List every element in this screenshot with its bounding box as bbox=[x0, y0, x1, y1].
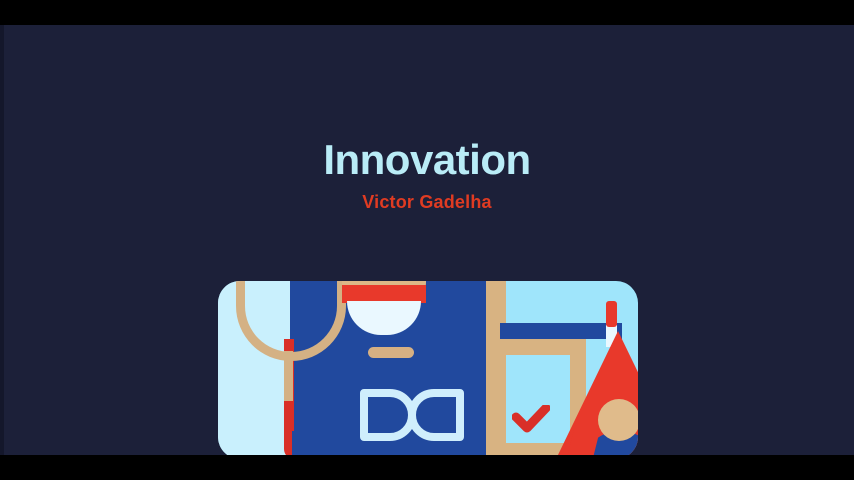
stethoscope-stem-icon bbox=[284, 351, 293, 401]
illustration-card bbox=[218, 281, 638, 455]
page-title: Innovation bbox=[0, 138, 854, 182]
pen-tip-icon bbox=[606, 301, 617, 327]
slide-canvas: Innovation Victor Gadelha bbox=[0, 25, 854, 455]
title-block: Innovation Victor Gadelha bbox=[0, 138, 854, 213]
letterbox-bottom bbox=[0, 455, 854, 480]
red-edge-mask bbox=[292, 431, 308, 455]
check-icon bbox=[512, 405, 550, 433]
person-head-shape bbox=[598, 399, 638, 441]
slide-subtitle-author: Victor Gadelha bbox=[0, 192, 854, 213]
slide-viewport: Innovation Victor Gadelha bbox=[0, 0, 854, 480]
dc-logo-icon bbox=[360, 389, 464, 441]
clipboard-frame-left bbox=[486, 281, 506, 455]
letterbox-top bbox=[0, 0, 854, 25]
chest-pill-accent bbox=[368, 347, 414, 358]
